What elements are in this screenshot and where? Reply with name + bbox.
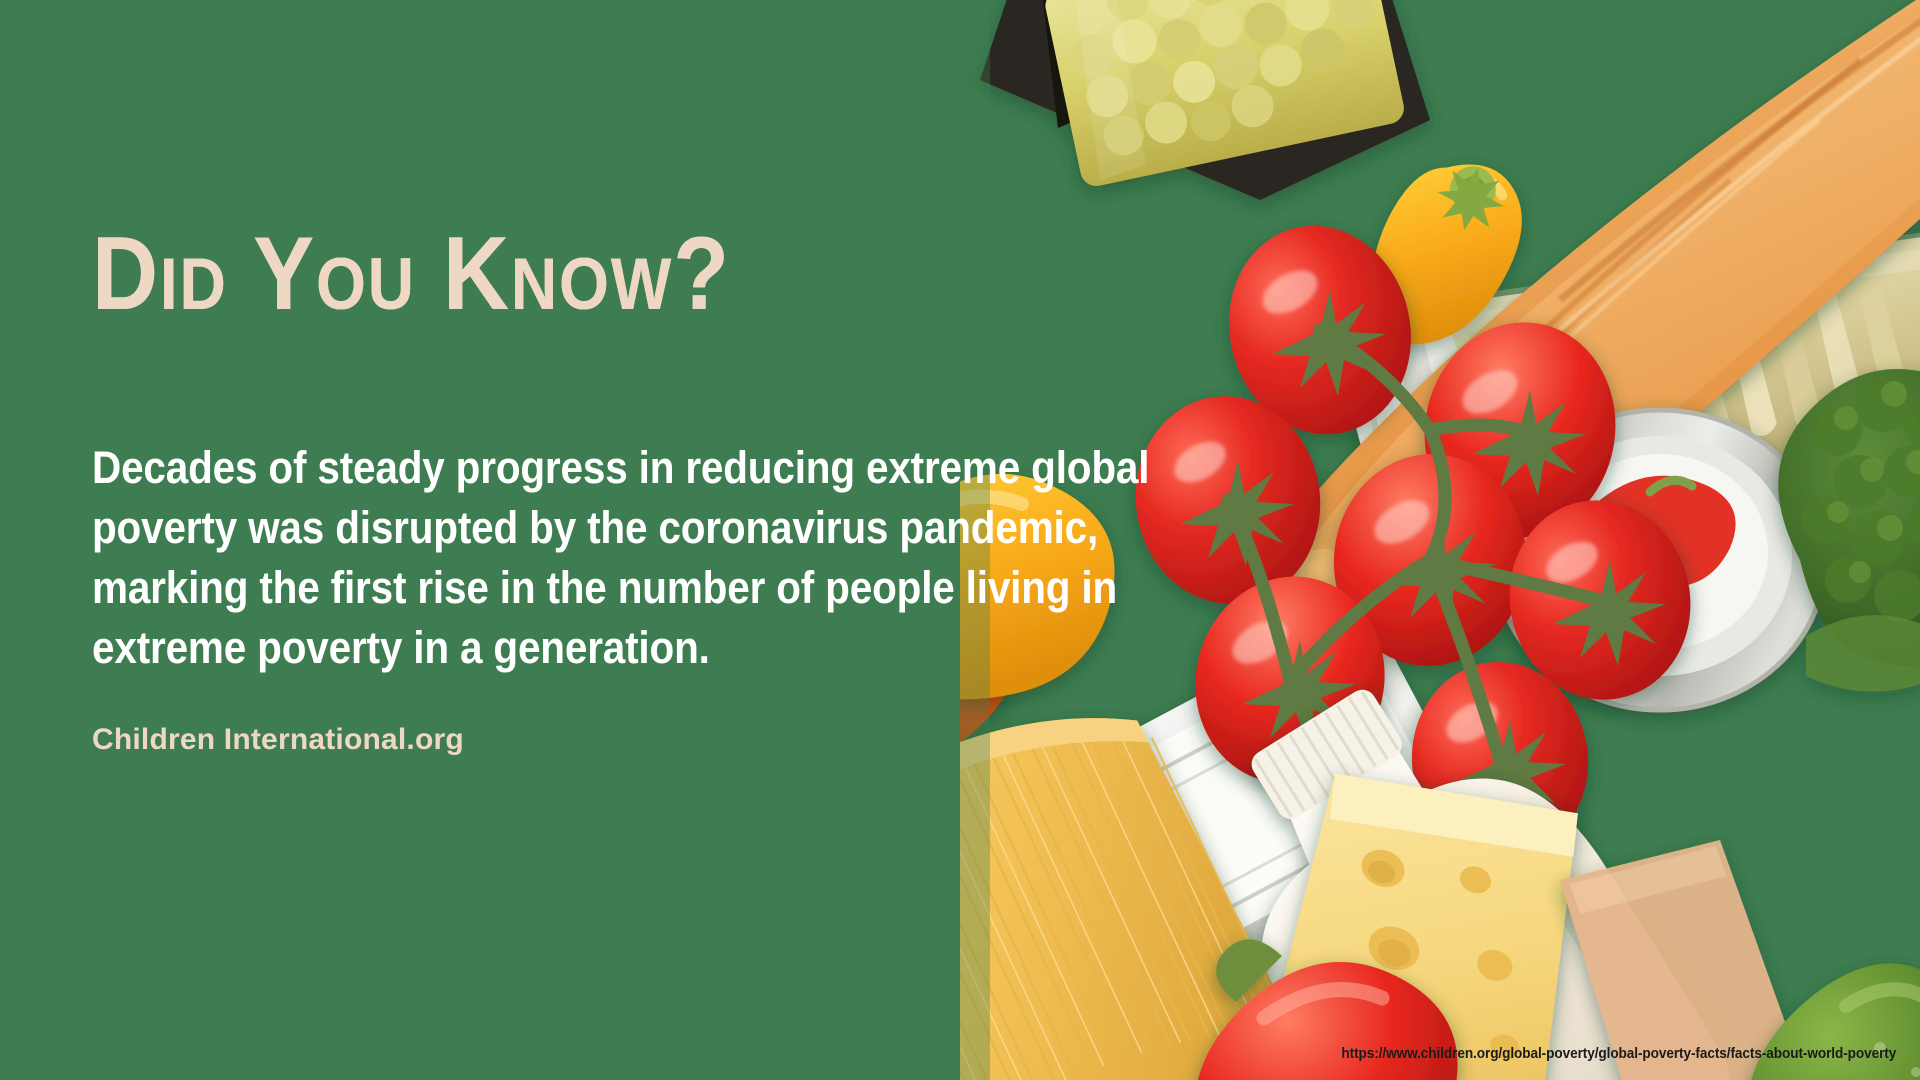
poster-canvas: Did You Know? Decades of steady progress…: [0, 0, 1920, 1080]
page-title: Did You Know?: [92, 222, 731, 326]
text-column: Did You Know? Decades of steady progress…: [0, 0, 1060, 1080]
body-copy: Decades of steady progress in reducing e…: [92, 438, 1154, 678]
body-line-4: extreme poverty in a generation.: [92, 618, 1154, 678]
body-line-1: Decades of steady progress in reducing e…: [92, 438, 1154, 498]
body-line-2: poverty was disrupted by the coronavirus…: [92, 498, 1154, 558]
body-line-3: marking the first rise in the number of …: [92, 558, 1154, 618]
attribution-source: Children International.org: [92, 723, 464, 757]
source-url-link[interactable]: https://www.children.org/global-poverty/…: [1341, 1046, 1896, 1062]
